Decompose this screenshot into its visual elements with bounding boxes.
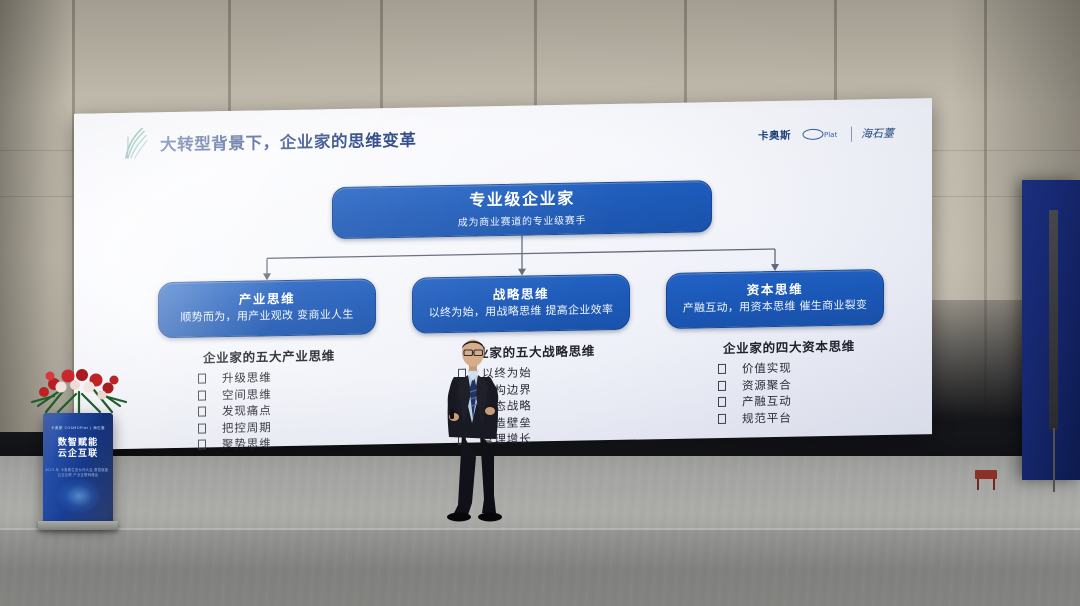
branch-node-subtitle: 产融互动，用资本思维 催生商业裂变 bbox=[683, 298, 868, 316]
podium-subline: 2023 年 卡奥斯生态伙伴大会 数智赋能 · 云企互联 产业互联网峰会 bbox=[43, 468, 113, 478]
list-item-label: 升级思维 bbox=[222, 369, 272, 386]
root-node-title: 专业级企业家 bbox=[469, 191, 575, 210]
bullet-square-icon bbox=[198, 440, 206, 450]
corp-logo-cn: 卡奥斯 bbox=[758, 127, 791, 143]
root-node-subtitle: 成为商业赛道的专业级赛手 bbox=[458, 211, 586, 228]
list-item: 规范平台 bbox=[718, 407, 904, 427]
list-block-industry: 企业家的五大产业思维 升级思维 空间思维 发现痛点 把控周期 聚势思维 bbox=[154, 344, 384, 454]
list-block-capital: 企业家的四大资本思维 价值实现 资源聚合 产融互动 规范平台 bbox=[674, 335, 904, 428]
diagram-branch-node-capital: 资本思维 产融互动，用资本思维 催生商业裂变 bbox=[666, 269, 884, 329]
branch-node-title: 资本思维 bbox=[747, 283, 803, 298]
list-item-label: 聚势思维 bbox=[222, 435, 272, 452]
corporate-logo: 卡奥斯 Plat 海石薹 bbox=[758, 125, 894, 143]
diagram-branch-node-strategy: 战略思维 以终为始，用战略思维 提高企业效率 bbox=[412, 274, 630, 334]
list-item-label: 资源聚合 bbox=[742, 376, 792, 393]
list-item-label: 发现痛点 bbox=[222, 402, 272, 419]
lectern-podium: 卡奥斯 COSMOPlat | 海石薹 数智赋能 云企互联 2023 年 卡奥斯… bbox=[43, 413, 113, 525]
list-heading: 企业家的五大产业思维 bbox=[154, 344, 384, 367]
bullet-square-icon bbox=[198, 423, 206, 433]
bullet-square-icon bbox=[718, 381, 726, 391]
podium-headline-line1: 数智赋能 bbox=[43, 438, 113, 449]
list-items-capital: 价值实现 资源聚合 产融互动 规范平台 bbox=[674, 358, 904, 428]
bullet-square-icon bbox=[198, 390, 206, 400]
bullet-square-icon bbox=[718, 364, 726, 374]
bullet-square-icon bbox=[198, 374, 206, 384]
stool-leg bbox=[977, 479, 979, 490]
podium-base-plate bbox=[38, 521, 118, 530]
bullet-square-icon bbox=[718, 414, 726, 424]
list-heading: 企业家的四大资本思维 bbox=[674, 335, 904, 358]
presenter-person bbox=[424, 337, 536, 530]
slide-title: 大转型背景下，企业家的思维变革 bbox=[160, 127, 417, 156]
branch-node-title: 产业思维 bbox=[239, 292, 295, 307]
svg-text:Plat: Plat bbox=[824, 131, 837, 139]
green-grass-swoosh-logo bbox=[122, 127, 148, 161]
list-items-industry: 升级思维 空间思维 发现痛点 把控周期 聚势思维 bbox=[154, 367, 384, 454]
red-stool bbox=[975, 470, 997, 479]
podium-headline: 数智赋能 云企互联 bbox=[43, 438, 113, 460]
podium-headline-line2: 云企互联 bbox=[43, 449, 113, 460]
list-item-label: 价值实现 bbox=[742, 360, 792, 377]
list-item-label: 规范平台 bbox=[742, 409, 792, 426]
stool-leg bbox=[993, 479, 995, 490]
bullet-square-icon bbox=[718, 397, 726, 407]
diagram-branch-node-industry: 产业思维 顺势而为，用产业观改 变商业人生 bbox=[158, 278, 376, 338]
branch-node-subtitle: 以终为始，用战略思维 提高企业效率 bbox=[429, 303, 614, 321]
list-item-label: 空间思维 bbox=[222, 386, 272, 403]
bullet-square-icon bbox=[198, 407, 206, 417]
line-array-speaker bbox=[1049, 210, 1058, 430]
stage-scene: 大转型背景下，企业家的思维变革 卡奥斯 Plat 海石薹 bbox=[0, 0, 1080, 606]
slide-header: 大转型背景下，企业家的思维变革 bbox=[122, 122, 417, 161]
list-item-label: 产融互动 bbox=[742, 393, 792, 410]
list-item-label: 把控周期 bbox=[222, 419, 272, 436]
diagram-root-node: 专业级企业家 成为商业赛道的专业级赛手 bbox=[332, 180, 712, 239]
cosmoplat-wordmark-icon: Plat bbox=[800, 128, 842, 141]
podium-logo-line: 卡奥斯 COSMOPlat | 海石薹 bbox=[43, 426, 113, 431]
logo-divider bbox=[851, 126, 852, 141]
floor-carpet-texture bbox=[0, 456, 1080, 606]
list-item: 聚势思维 bbox=[198, 433, 384, 453]
branch-node-title: 战略思维 bbox=[493, 287, 549, 302]
corp-seal: 海石薹 bbox=[861, 125, 894, 142]
speaker-stand-pole bbox=[1053, 428, 1055, 492]
podium-globe-graphic bbox=[57, 479, 101, 513]
branch-node-subtitle: 顺势而为，用产业观改 变商业人生 bbox=[180, 308, 353, 326]
